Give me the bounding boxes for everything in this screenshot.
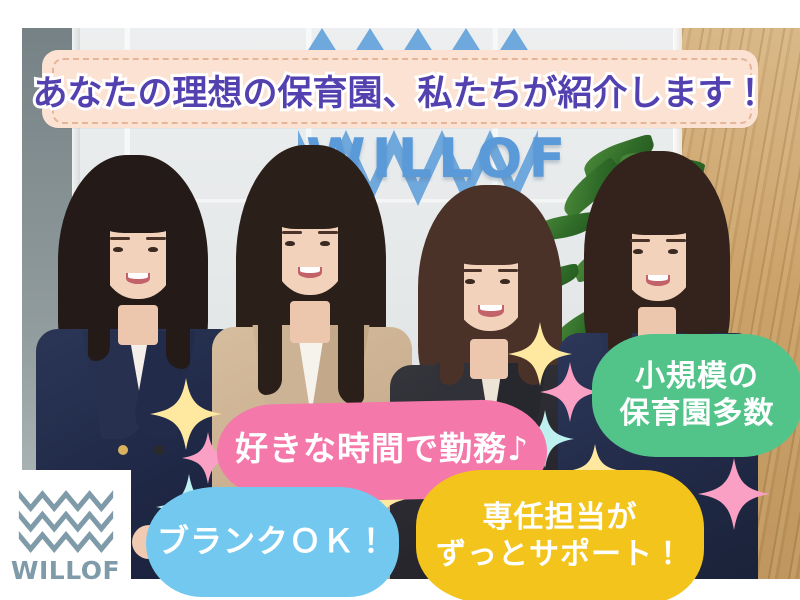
bubble-small-nurseries: 小規模の 保育園多数 (592, 334, 800, 457)
bubble-dedicated-support: 専任担当が ずっとサポート！ (416, 470, 704, 600)
header-headline: あなたの理想の保育園、私たちが紹介します！ (42, 61, 758, 119)
willof-logo-badge: WILLOF (0, 470, 131, 600)
bubble-small-nurseries-line2: 保育園多数 (620, 396, 775, 433)
bubble-dedicated-support-line2: ずっとサポート！ (436, 537, 684, 574)
bubble-blank-ok-label: ブランクＯＫ！ (157, 522, 388, 561)
willof-wordmark: WILLOF (11, 556, 120, 585)
bubble-small-nurseries-line1: 小規模の (620, 359, 775, 396)
willof-zigzag-icon (18, 487, 114, 553)
bubble-flexible-hours-label: 好きな時間で勤務♪ (235, 429, 529, 473)
bubble-blank-ok: ブランクＯＫ！ (146, 487, 399, 597)
promo-banner: WILLOF (0, 0, 800, 600)
bubble-dedicated-support-line1: 専任担当が (436, 500, 684, 537)
